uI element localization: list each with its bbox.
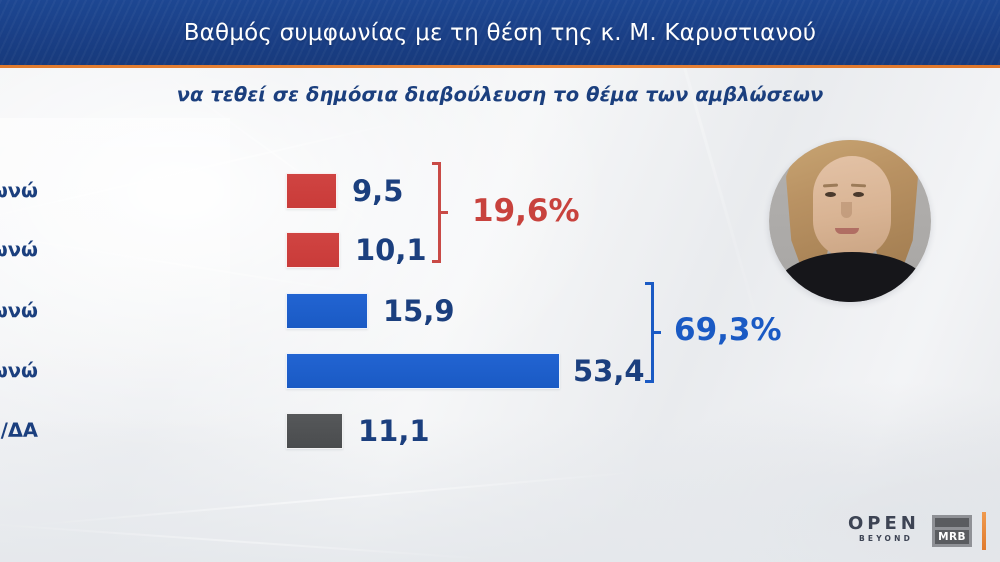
row-label: Σίγουρα Διαφωνώ [0, 352, 38, 390]
bar-value: 15,9 [383, 292, 455, 330]
accent-stripe [982, 512, 986, 550]
bracket-nub [441, 211, 448, 214]
bracket-nub [654, 331, 661, 334]
mrb-logo-bar [935, 518, 969, 527]
row-label: ΔΞ/ΔΑ [0, 412, 38, 450]
bar-mallon-symfono [286, 232, 340, 268]
bracket-arm-bottom [432, 260, 441, 263]
nose-shape [841, 202, 852, 218]
eye-left-shape [825, 192, 836, 197]
agree-total-value: 19,6% [472, 193, 580, 229]
header-accent-rule [0, 65, 1000, 68]
open-beyond-logo: OPEN BEYOND [848, 514, 922, 544]
mouth-shape [835, 228, 859, 234]
page-subtitle: να τεθεί σε δημόσια διαβούλευση το θέμα … [0, 72, 1000, 116]
mrb-logo-word: MRB [935, 530, 969, 544]
open-logo-word: OPEN [848, 514, 922, 533]
bar-value: 11,1 [358, 412, 430, 450]
row-label: Μάλλον Διαφωνώ [0, 292, 38, 330]
avatar-photo [769, 140, 931, 302]
page-title: Βαθμός συμφωνίας με τη θέση της κ. Μ. Κα… [0, 0, 1000, 65]
clothing-shape [775, 252, 929, 302]
bar-dk-na [286, 413, 343, 449]
chart-row: Σίγουρα Συμφωνώ 9,5 [0, 172, 760, 210]
beyond-logo-word: BEYOND [848, 533, 922, 544]
avatar [769, 140, 931, 302]
bar-value: 53,4 [573, 352, 645, 390]
mrb-logo: MRB [932, 515, 972, 547]
bar-mallon-diafono [286, 293, 368, 329]
chart-row: Μάλλον Συμφωνώ 10,1 [0, 231, 760, 269]
disagree-total-value: 69,3% [674, 312, 782, 348]
row-label: Μάλλον Συμφωνώ [0, 231, 38, 269]
chart-row: Μάλλον Διαφωνώ 15,9 [0, 292, 760, 330]
bracket-arm-bottom [645, 380, 654, 383]
bar-sigoura-diafono [286, 353, 560, 389]
poll-infographic: Βαθμός συμφωνίας με τη θέση της κ. Μ. Κα… [0, 0, 1000, 562]
bar-sigoura-symfono [286, 173, 337, 209]
logo-bar: OPEN BEYOND MRB [848, 512, 988, 552]
bar-value: 10,1 [355, 231, 427, 269]
chart-row: Σίγουρα Διαφωνώ 53,4 [0, 352, 760, 390]
chart-row: ΔΞ/ΔΑ 11,1 [0, 412, 760, 450]
row-label: Σίγουρα Συμφωνώ [0, 172, 38, 210]
face-shape [813, 156, 891, 258]
eye-right-shape [853, 192, 864, 197]
bar-value: 9,5 [352, 172, 403, 210]
